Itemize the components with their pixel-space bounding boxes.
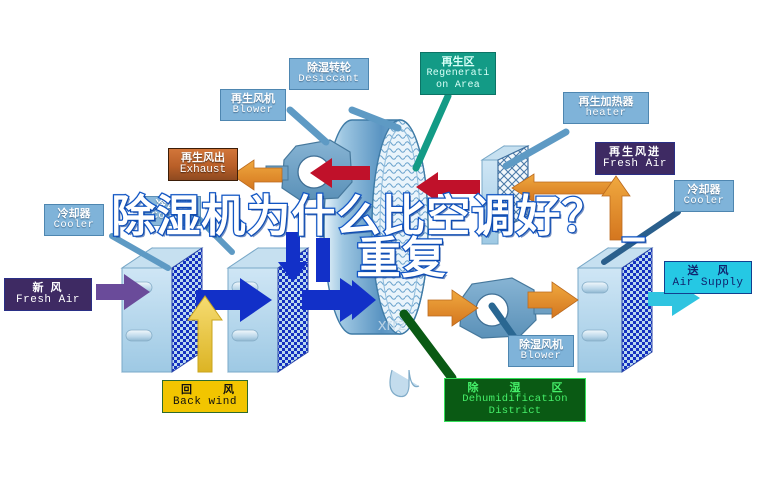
- label-dehumidification-district-en-2: District: [449, 406, 581, 418]
- label-exhaust[interactable]: 再生风出 Exhaust: [168, 148, 238, 181]
- label-regeneration-blower-en: Blower: [225, 105, 281, 117]
- label-cooler-left-en: Cooler: [49, 220, 99, 232]
- arrow-exhaust-out: [232, 160, 282, 190]
- label-fresh-air-cn: 新 风: [9, 282, 87, 294]
- label-cooler-right[interactable]: 冷却器 Cooler: [674, 180, 734, 212]
- label-dehumidification-blower-en: Blower: [513, 351, 569, 363]
- cooler-unit-right: [578, 248, 652, 372]
- label-dehumidification-district[interactable]: 除 湿 区 Dehumidification District: [444, 378, 586, 422]
- label-regeneration-area-en-2: on Area: [425, 80, 491, 91]
- label-cooler-right-en: Cooler: [679, 196, 729, 208]
- label-dehumidification-blower[interactable]: 除湿风机 Blower: [508, 335, 574, 367]
- label-regeneration-fresh-air[interactable]: 再生风进 Fresh Air: [595, 142, 675, 175]
- label-back-wind[interactable]: 回 风 Back wind: [162, 380, 248, 413]
- label-desiccant-wheel-en: Desiccant: [294, 74, 364, 86]
- label-regeneration-fresh-air-en: Fresh Air: [600, 158, 670, 170]
- label-back-wind-en: Back wind: [167, 396, 243, 408]
- label-regeneration-area-en-1: Regenerati: [425, 68, 491, 79]
- label-cooler-middle-en: Cooler: [147, 211, 197, 223]
- label-regeneration-blower[interactable]: 再生风机 Blower: [220, 89, 286, 121]
- label-regeneration-area-cn: 再生区: [425, 56, 491, 68]
- label-fresh-air-en: Fresh Air: [9, 294, 87, 306]
- label-regeneration-heater-en: heater: [568, 108, 644, 120]
- label-cooler-left[interactable]: 冷却器 Cooler: [44, 204, 104, 236]
- diagram-canvas: xrrz: [0, 0, 757, 488]
- label-fresh-air[interactable]: 新 风 Fresh Air: [4, 278, 92, 311]
- label-back-wind-cn: 回 风: [167, 384, 243, 396]
- label-regeneration-heater[interactable]: 再生加热器 heater: [563, 92, 649, 124]
- arrow-branch-up: [316, 238, 330, 282]
- label-cooler-middle[interactable]: 冷却器 Cooler: [143, 196, 201, 226]
- label-regeneration-fresh-air-cn: 再生风进: [600, 146, 670, 158]
- label-air-supply[interactable]: 送 风 Air Supply: [664, 261, 752, 294]
- label-air-supply-cn: 送 风: [669, 265, 747, 277]
- label-exhaust-en: Exhaust: [173, 164, 233, 176]
- label-exhaust-cn: 再生风出: [173, 152, 233, 164]
- label-desiccant-wheel[interactable]: 除湿转轮 Desiccant: [289, 58, 369, 90]
- arrow-regen-fresh-air-in: [512, 174, 616, 202]
- label-regeneration-area[interactable]: 再生区 Regenerati on Area: [420, 52, 496, 95]
- label-air-supply-en: Air Supply: [669, 277, 747, 289]
- dehumidifier-schematic-artwork: xrrz: [0, 0, 757, 488]
